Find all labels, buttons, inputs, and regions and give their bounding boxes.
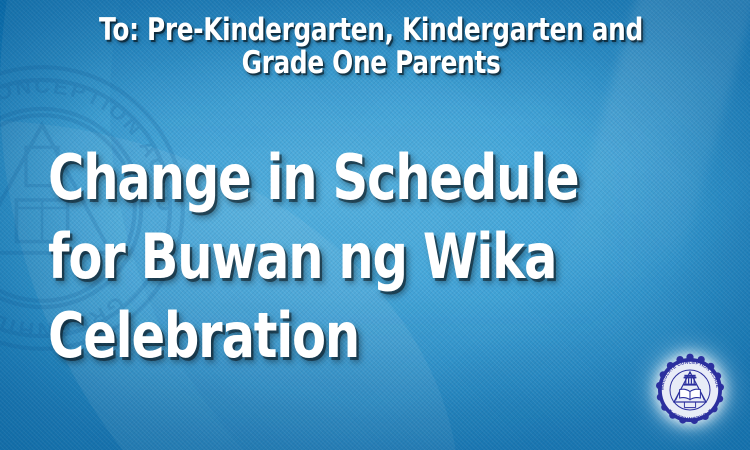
page-title: Change in Schedule for Buwan ng Wika Cel… <box>48 138 578 375</box>
announcement-banner: IMMACULATE CONCEPTION ACADEMY GREENHILLS… <box>0 0 750 450</box>
recipient-line: To: Pre-Kindergarten, Kindergarten and G… <box>74 14 668 80</box>
text-block: To: Pre-Kindergarten, Kindergarten and G… <box>0 0 750 450</box>
school-seal-logo-icon: IMMACULATE CONCEPTION ACADEMY ★ GREENHIL… <box>650 350 730 430</box>
